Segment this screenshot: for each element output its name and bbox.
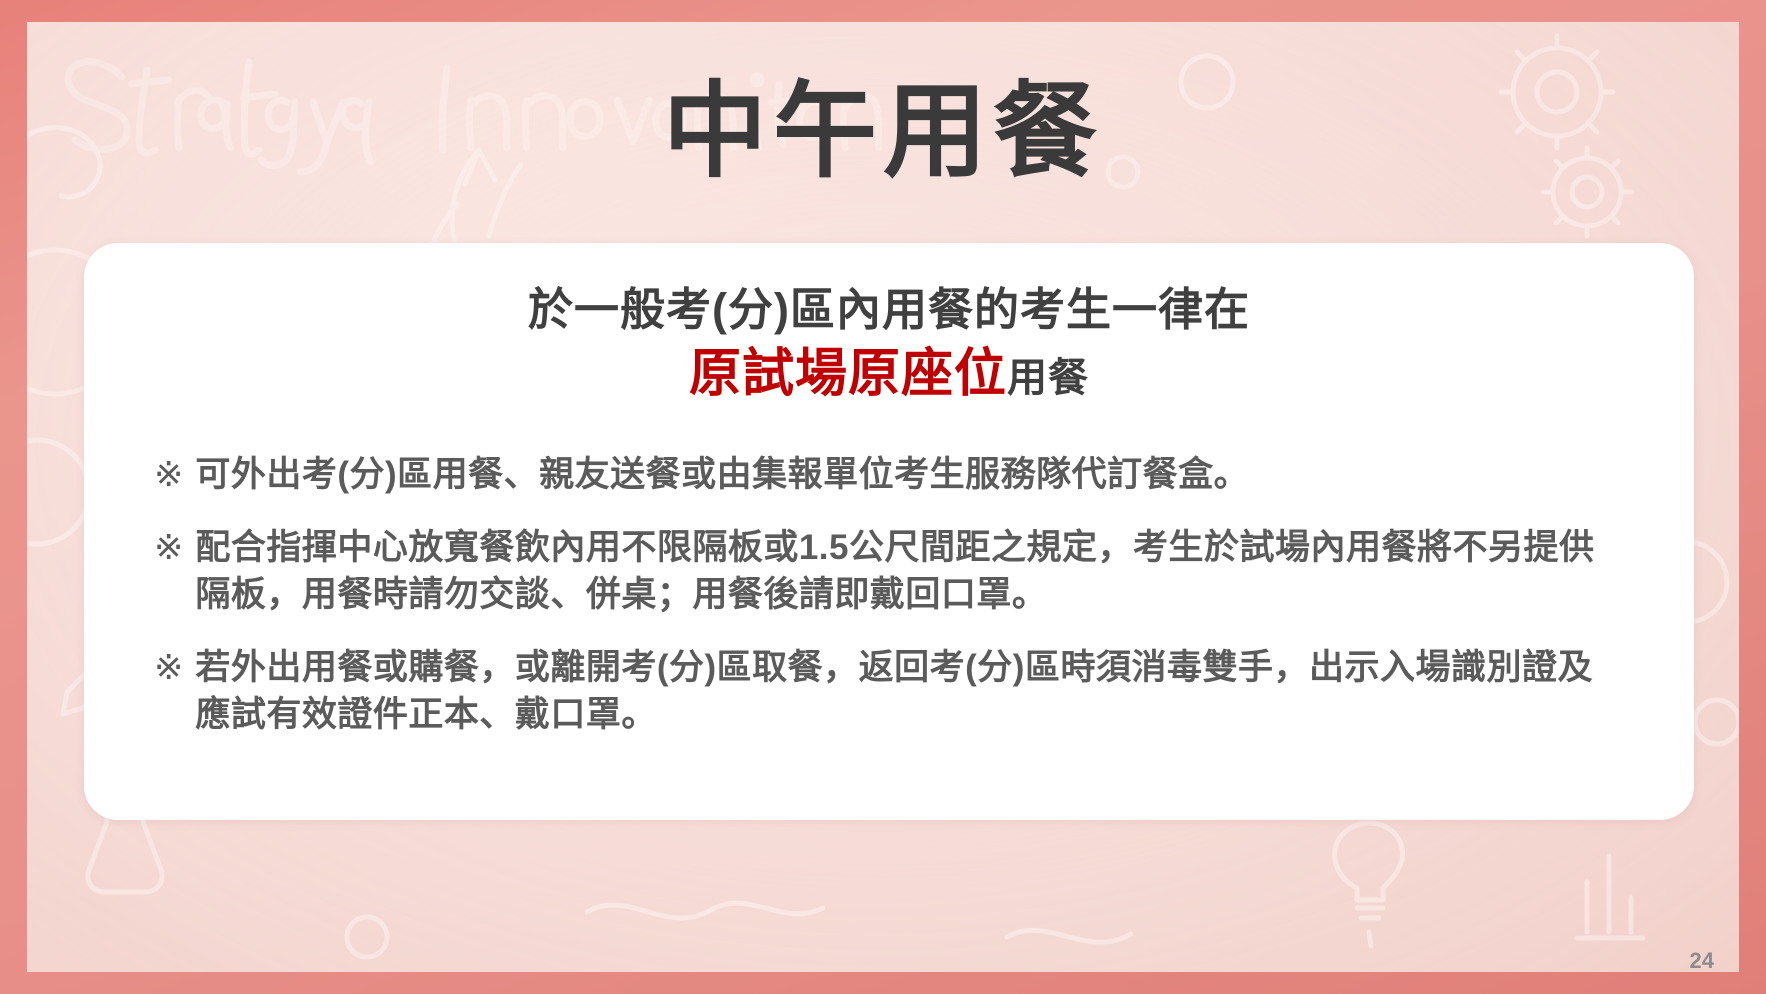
slide: 中午用餐 於一般考(分)區內用餐的考生一律在 原試場原座位用餐 ※ 可外出考(分… <box>0 0 1766 994</box>
content-card-inner: 於一般考(分)區內用餐的考生一律在 原試場原座位用餐 ※ 可外出考(分)區用餐、… <box>84 243 1694 820</box>
page-title: 中午用餐 <box>0 78 1766 187</box>
headline-emphasis-tail: 用餐 <box>1007 356 1089 400</box>
page-number: 24 <box>1690 948 1714 974</box>
bullet-list: ※ 可外出考(分)區用餐、親友送餐或由集報單位考生服務隊代訂餐盒。 ※ 配合指揮… <box>140 452 1638 738</box>
list-item: ※ 若外出用餐或購餐，或離開考(分)區取餐，返回考(分)區時須消毒雙手，出示入場… <box>154 645 1614 739</box>
list-item-text: 可外出考(分)區用餐、親友送餐或由集報單位考生服務隊代訂餐盒。 <box>195 452 1249 499</box>
content-card: 於一般考(分)區內用餐的考生一律在 原試場原座位用餐 ※ 可外出考(分)區用餐、… <box>84 243 1694 820</box>
reference-mark-icon: ※ <box>154 525 183 572</box>
headline-block: 於一般考(分)區內用餐的考生一律在 原試場原座位用餐 <box>140 281 1638 408</box>
reference-mark-icon: ※ <box>154 452 183 499</box>
list-item-text: 配合指揮中心放寬餐飲內用不限隔板或1.5公尺間距之規定，考生於試場內用餐將不另提… <box>195 525 1614 619</box>
list-item: ※ 可外出考(分)區用餐、親友送餐或由集報單位考生服務隊代訂餐盒。 <box>154 452 1614 499</box>
headline-line-1: 於一般考(分)區內用餐的考生一律在 <box>140 281 1638 339</box>
headline-line-2: 原試場原座位用餐 <box>140 341 1638 409</box>
list-item-text: 若外出用餐或購餐，或離開考(分)區取餐，返回考(分)區時須消毒雙手，出示入場識別… <box>195 645 1614 739</box>
reference-mark-icon: ※ <box>154 645 183 692</box>
list-item: ※ 配合指揮中心放寬餐飲內用不限隔板或1.5公尺間距之規定，考生於試場內用餐將不… <box>154 525 1614 619</box>
headline-emphasis-red: 原試場原座位 <box>689 345 1007 403</box>
